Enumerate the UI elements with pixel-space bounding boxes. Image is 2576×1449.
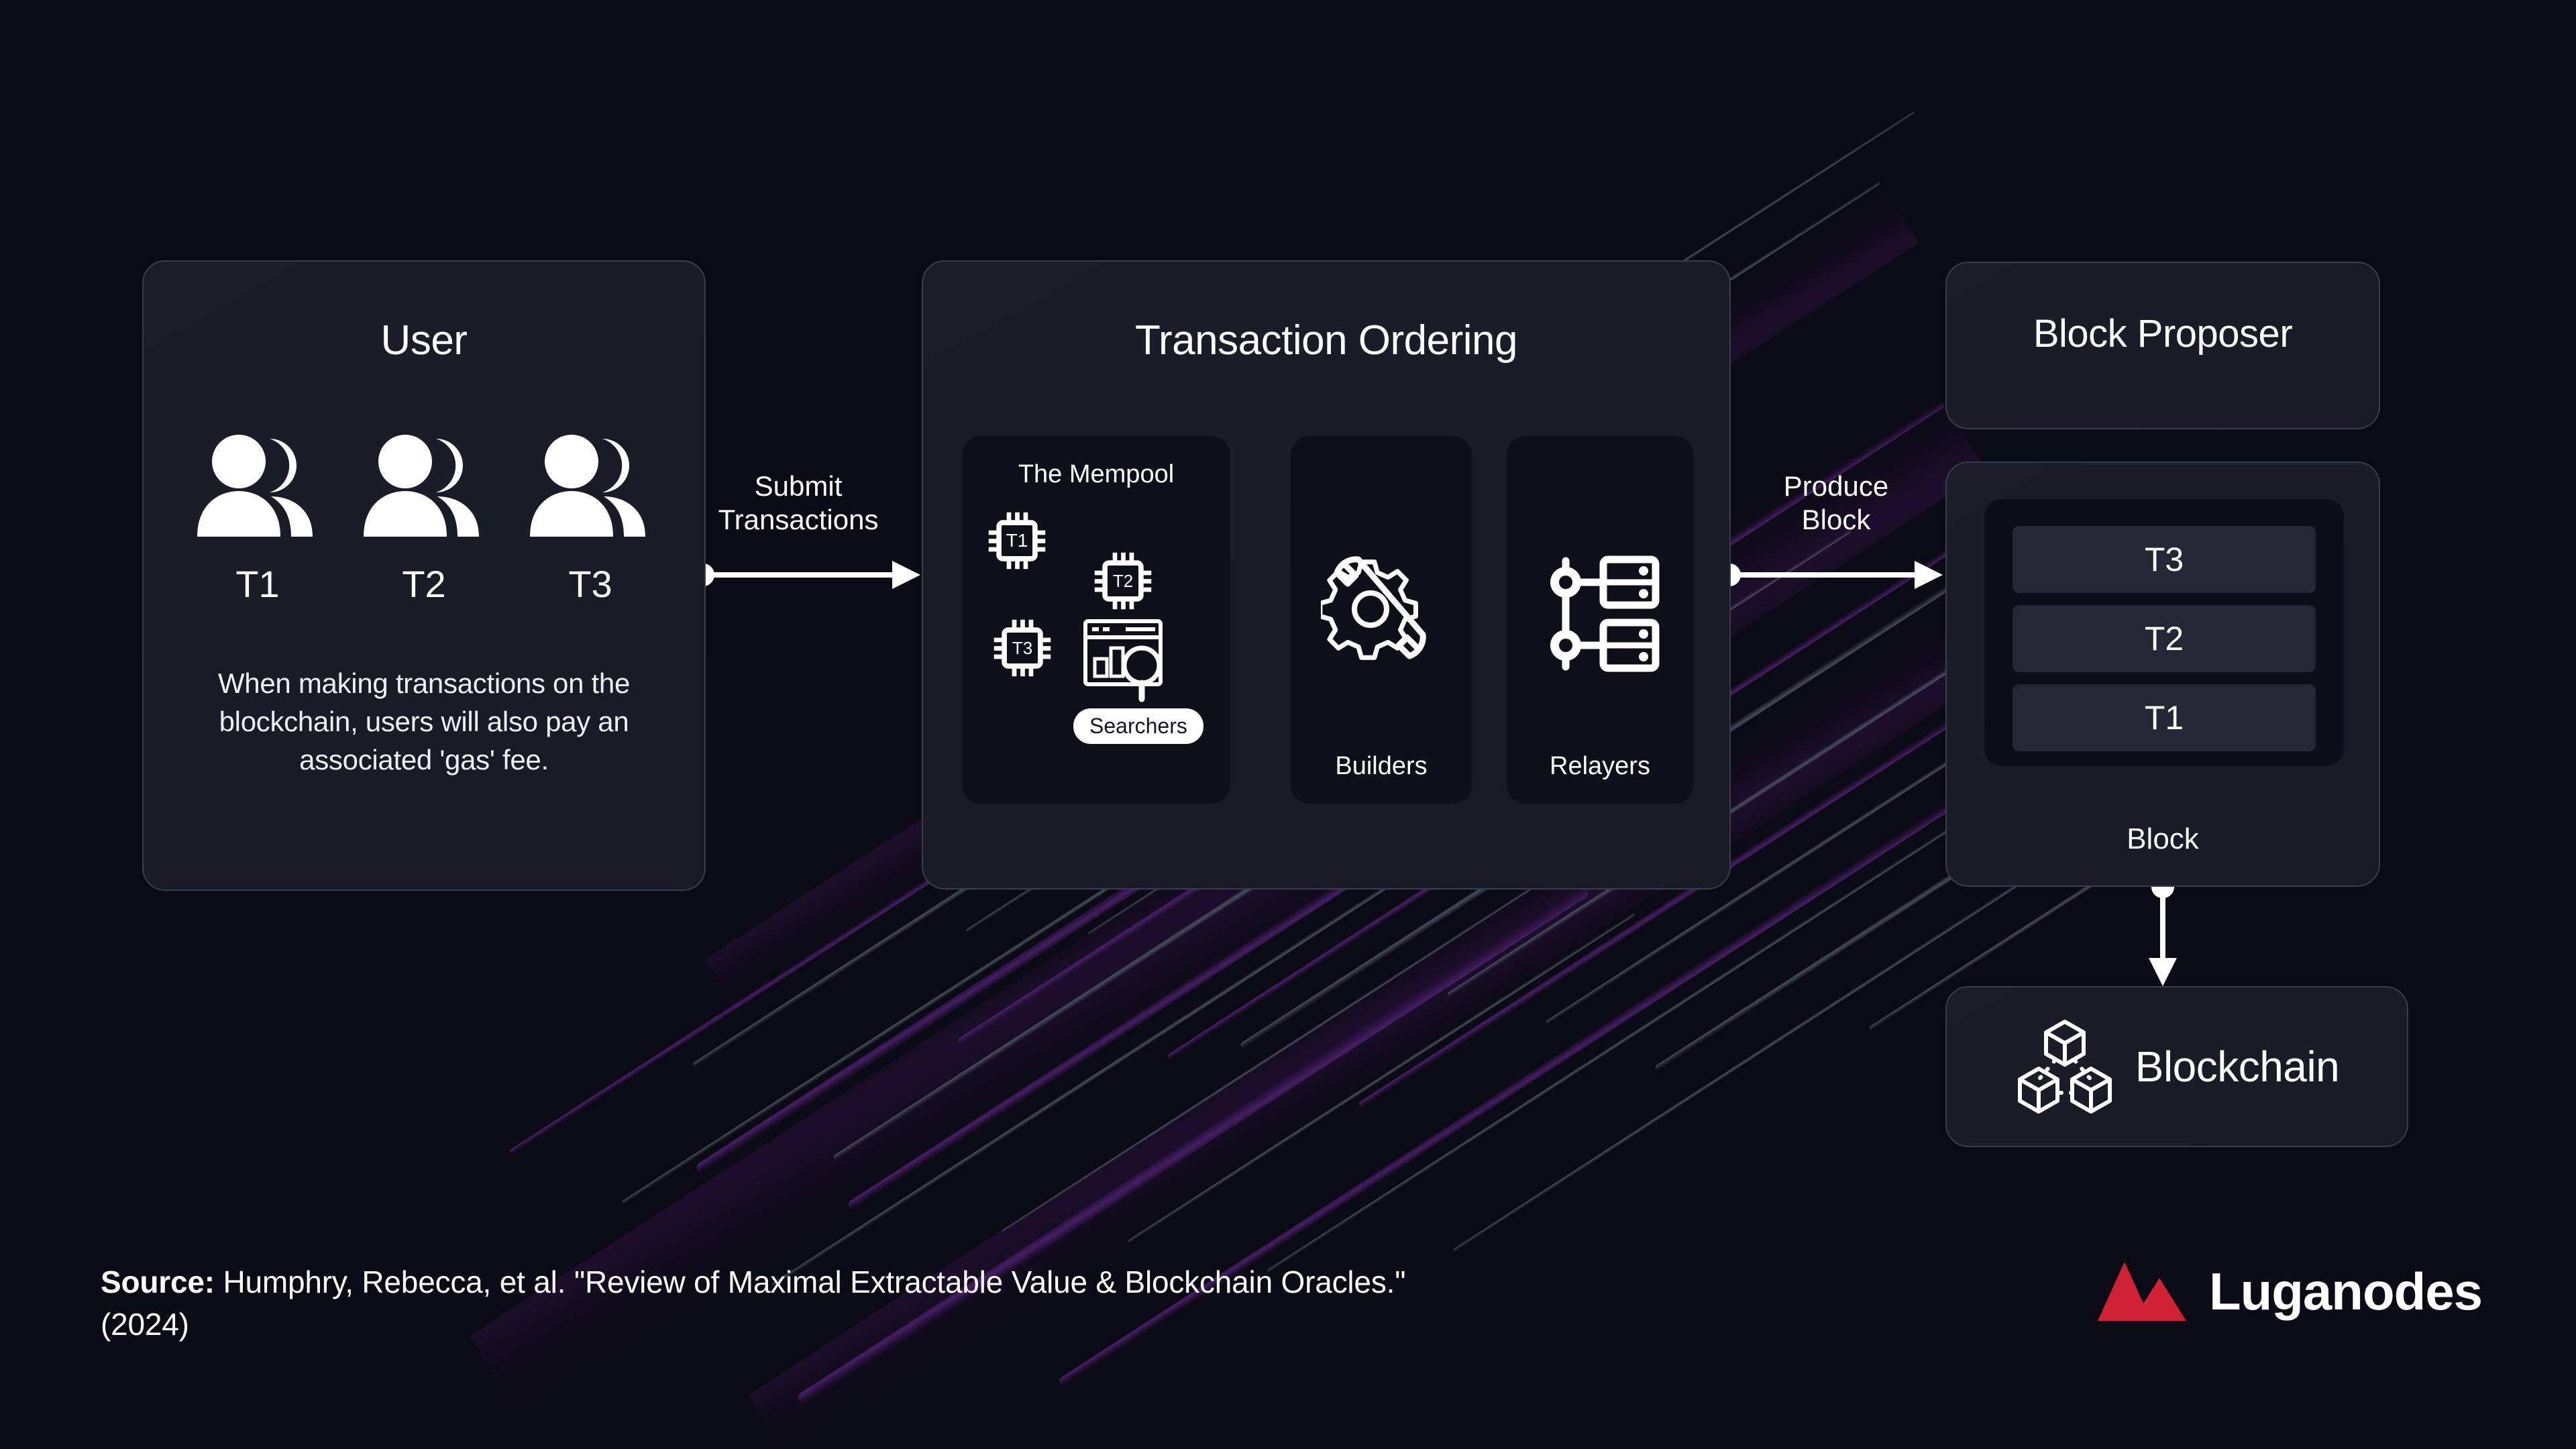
block-proposer-panel: Block Proposer xyxy=(1945,262,2380,429)
blockchain-panel: Blockchain xyxy=(1945,986,2408,1147)
source-text: Humphry, Rebecca, et al. "Review of Maxi… xyxy=(101,1265,1405,1342)
cpu-chip-t1: T1 xyxy=(985,508,1049,573)
source-citation: Source: Humphry, Rebecca, et al. "Review… xyxy=(101,1261,1442,1346)
wrench-gear-icon xyxy=(1321,550,1442,671)
user-panel: User T1 T2 xyxy=(142,260,706,891)
connector-label-line1: Submit xyxy=(698,470,899,503)
source-label: Source: xyxy=(101,1265,215,1299)
block-caption: Block xyxy=(1947,822,2379,856)
analytics-search-icon xyxy=(1081,617,1175,704)
connector-label-line1: Produce xyxy=(1739,470,1933,503)
people-icon xyxy=(523,429,657,543)
blockchain-content: Blockchain xyxy=(1947,987,2407,1146)
brand-lockup: Luganodes xyxy=(2098,1258,2482,1325)
user-label-2: T3 xyxy=(568,562,612,606)
block-transaction-row: T2 xyxy=(2012,605,2316,672)
relayers-caption: Relayers xyxy=(1507,752,1693,781)
mempool-panel: The Mempool T1 xyxy=(962,436,1230,804)
connector-label-line2: Transactions xyxy=(698,503,899,537)
people-icon xyxy=(191,429,325,543)
user-item-0: T1 xyxy=(191,429,325,606)
relayers-panel: Relayers xyxy=(1507,436,1693,804)
connector-label-produce-block: Produce Block xyxy=(1739,470,1933,537)
cpu-chip-icon xyxy=(990,616,1055,680)
block-panel: T3 T2 T1 Block xyxy=(1945,462,2380,887)
people-icon xyxy=(357,429,491,543)
block-transaction-row: T3 xyxy=(2012,526,2316,593)
cpu-chip-t3: T3 xyxy=(990,616,1055,680)
brand-name: Luganodes xyxy=(2209,1261,2482,1322)
block-transaction-row: T1 xyxy=(2012,684,2316,751)
user-label-1: T2 xyxy=(402,562,445,606)
user-panel-title: User xyxy=(144,317,704,364)
user-item-2: T3 xyxy=(523,429,657,606)
cpu-chip-icon xyxy=(985,508,1049,573)
cpu-chip-icon xyxy=(1091,549,1155,613)
block-container: T3 T2 T1 xyxy=(1984,499,2344,766)
transaction-ordering-panel: Transaction Ordering The Mempool T1 xyxy=(922,260,1731,890)
builders-panel: Builders xyxy=(1291,436,1472,804)
connector-label-line2: Block xyxy=(1739,503,1933,537)
user-icon-row: T1 T2 T3 xyxy=(144,429,704,606)
mempool-title: The Mempool xyxy=(962,460,1230,489)
luganodes-logo-icon xyxy=(2098,1258,2192,1325)
searchers-badge: Searchers xyxy=(1073,708,1203,744)
connector-label-submit-transactions: Submit Transactions xyxy=(698,470,899,537)
user-label-0: T1 xyxy=(235,562,279,606)
builders-caption: Builders xyxy=(1291,752,1472,781)
cpu-chip-t2: T2 xyxy=(1091,549,1155,613)
transaction-ordering-title: Transaction Ordering xyxy=(923,317,1729,364)
user-description: When making transactions on the blockcha… xyxy=(184,664,664,779)
server-network-icon xyxy=(1536,550,1664,678)
user-item-1: T2 xyxy=(357,429,491,606)
blockchain-label: Blockchain xyxy=(2135,1042,2340,1091)
block-proposer-title: Block Proposer xyxy=(1947,311,2379,356)
blockchain-nodes-icon xyxy=(2015,1016,2115,1117)
